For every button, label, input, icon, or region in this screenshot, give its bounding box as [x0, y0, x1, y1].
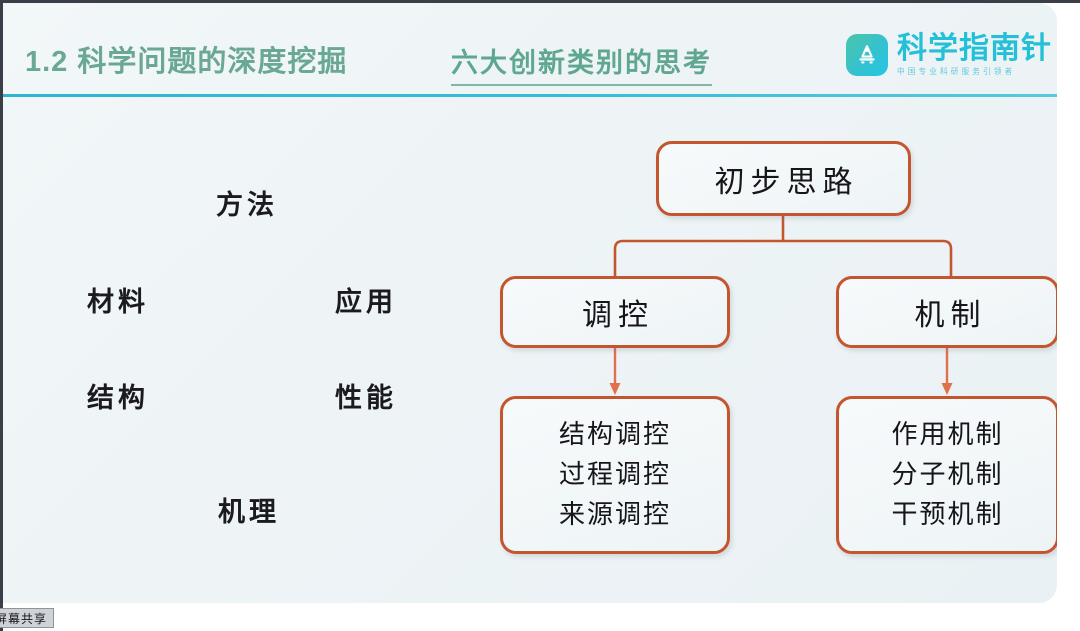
compass-logo-icon [846, 34, 888, 76]
keyword-mechanism: 机理 [218, 490, 280, 529]
brand-wordmark: 科学指南针 中国专业科研服务引领者 [897, 34, 1052, 76]
keyword-material: 材料 [87, 280, 149, 319]
keyword-application: 应用 [335, 280, 397, 319]
keyword-method: 方法 [216, 183, 278, 222]
slide-section-subtitle: 六大创新类别的思考 [451, 41, 712, 86]
screen-share-badge: 屏幕共享 [0, 608, 54, 628]
flow-node-mechanism[interactable]: 机制 [836, 276, 1057, 348]
flow-detail-item: 干预机制 [891, 495, 1003, 535]
presentation-slide: 1.2 科学问题的深度挖掘 六大创新类别的思考 科学指南针 中国专业科研服务引领… [3, 3, 1057, 603]
keyword-property: 性能 [335, 376, 397, 415]
flow-node-mechanism-label: 机制 [909, 290, 987, 334]
flow-detail-item: 分子机制 [891, 455, 1003, 495]
header-divider [3, 94, 1057, 97]
flow-node-root-label: 初步思路 [709, 157, 859, 201]
screen-share-viewport: 1.2 科学问题的深度挖掘 六大创新类别的思考 科学指南针 中国专业科研服务引领… [0, 0, 1080, 631]
flow-detail-item: 作用机制 [891, 415, 1003, 455]
flow-node-regulation-details[interactable]: 结构调控 过程调控 来源调控 [500, 396, 730, 554]
brand-logo: 科学指南针 中国专业科研服务引领者 [846, 34, 1052, 76]
flow-node-regulation-label: 调控 [576, 290, 654, 334]
flow-node-root[interactable]: 初步思路 [656, 141, 911, 216]
brand-tagline: 中国专业科研服务引领者 [897, 68, 1046, 76]
flow-detail-item: 过程调控 [559, 455, 671, 495]
keyword-structure: 结构 [87, 376, 149, 415]
brand-name: 科学指南针 [897, 34, 1052, 64]
flow-detail-item: 结构调控 [559, 415, 671, 455]
slide-section-title: 1.2 科学问题的深度挖掘 [25, 38, 347, 80]
flow-node-regulation[interactable]: 调控 [500, 276, 730, 348]
flow-detail-item: 来源调控 [559, 495, 671, 535]
flow-node-mechanism-details[interactable]: 作用机制 分子机制 干预机制 [836, 396, 1057, 554]
